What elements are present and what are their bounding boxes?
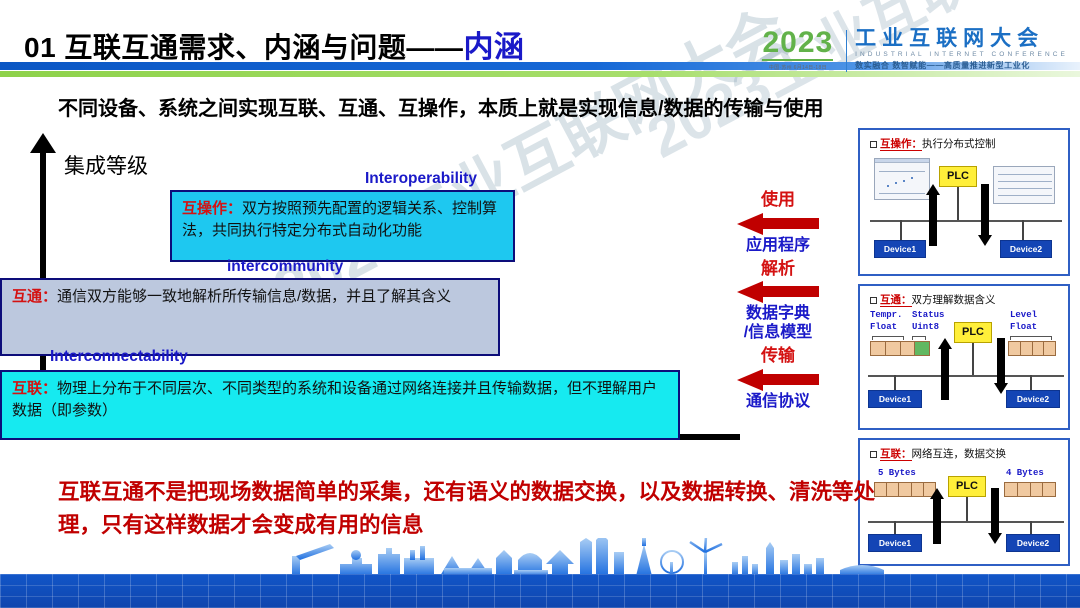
page-title-accent: 内涵: [463, 31, 524, 64]
level-box-interoperability: 互操作：双方按照预先配置的逻辑关系、控制算法，共同执行特定分布式自动化功能: [170, 190, 515, 262]
logo-chinese-name: 工业互联网大会: [855, 28, 1068, 50]
brace-left-2: [912, 336, 926, 340]
logo-divider: [846, 30, 847, 72]
panel-desc-intercommunication: 双方理解数据含义: [912, 294, 996, 306]
slide-root: 2023工业互联网大会 2023工业互联网大会 01 互联互通需求、内涵与问题—…: [0, 0, 1080, 608]
y-axis-arrowhead: [30, 133, 56, 153]
panel-key-interconnection: 互联：: [880, 448, 912, 461]
byte-cells-left-3: [874, 482, 936, 497]
device-stub-left-2: [894, 375, 896, 391]
logo-year: 2023: [762, 28, 833, 61]
device-stub-right-2: [1030, 375, 1032, 391]
checkbox-square-icon: [870, 297, 877, 304]
panel-key-interoperation: 互操作：: [880, 138, 922, 151]
panel-title-interoperation: 互操作：执行分布式控制: [870, 136, 996, 151]
level-box-intercommunity: 互通：通信双方能够一致地解析所传输信息/数据，并且了解其含义: [0, 278, 500, 356]
device-stub-right-1: [1022, 220, 1024, 242]
level-text-intercommunity: 通信双方能够一致地解析所传输信息/数据，并且了解其含义: [57, 288, 451, 305]
logo-english-name: INDUSTRIAL INTERNET CONFERENCE: [855, 51, 1068, 58]
plc-node-1: PLC: [939, 166, 977, 187]
fieldbus-line-2: [868, 375, 1064, 377]
left-arrow-icon-transmit: [737, 369, 819, 391]
arrow-top-label-parse: 解析: [718, 259, 838, 279]
label-level: Level: [1010, 310, 1037, 320]
level-box-interconnectability: 互联：物理上分布于不同层次、不同类型的系统和设备通过网络连接并且传输数据，但不理…: [0, 370, 680, 440]
panel-key-intercommunication: 互通：: [880, 294, 912, 307]
logo-name-block: 工业互联网大会 INDUSTRIAL INTERNET CONFERENCE 数…: [855, 28, 1068, 71]
level-label-interconnectability: Interconnectability: [50, 348, 188, 366]
label-status: Status: [912, 310, 944, 320]
fieldbus-line-1: [870, 220, 1062, 222]
level-key-interoperability: 互操作：: [182, 200, 242, 217]
arrow-bottom-label-dictionary: 数据字典: [718, 305, 838, 323]
level-text-interconnectability: 物理上分布于不同层次、不同类型的系统和设备通过网络连接并且传输数据，但不理解用户…: [12, 380, 657, 419]
left-arrow-icon-use: [737, 213, 819, 235]
left-arrow-icon-parse: [737, 281, 819, 303]
up-arrow-icon-2: [938, 338, 952, 400]
brace-left-1: [872, 336, 904, 340]
byte-cells-right-3: [1004, 482, 1056, 497]
up-arrow-icon-1: [926, 184, 940, 246]
label-4-bytes: 4 Bytes: [1006, 468, 1044, 478]
arrow-top-label-transmit: 传输: [718, 346, 838, 366]
label-float-left: Float: [870, 322, 897, 332]
device-left-1: Device1: [874, 240, 926, 258]
level-label-interoperability: Interoperability: [365, 170, 477, 188]
chart-thumbnail-icon: [874, 158, 930, 200]
plc-stub-1: [957, 187, 959, 220]
plc-stub-3: [966, 497, 968, 521]
level-key-interconnectability: 互联：: [12, 380, 57, 397]
level-label-intercommunity: intercommunity: [227, 258, 343, 276]
device-stub-left-1: [900, 220, 902, 242]
down-arrow-icon-3: [988, 488, 1002, 544]
bottom-banner: [0, 542, 1080, 608]
label-5-bytes: 5 Bytes: [878, 468, 916, 478]
logo-year-block: 2023 中国·苏州 6月14日-18日: [756, 28, 840, 71]
panel-title-intercommunication: 互通：双方理解数据含义: [870, 292, 996, 307]
logo-year-subtitle: 中国·苏州 6月14日-18日: [756, 64, 840, 71]
device-left-2: Device1: [868, 390, 922, 408]
table-thumbnail-icon: [993, 166, 1055, 204]
down-arrow-icon-2: [994, 338, 1008, 394]
panel-title-interconnection: 互联：网络互连，数据交换: [870, 446, 1006, 461]
arrow-column: 使用 应用程序 解析 数据字典 /信息模型 传输 通信协议: [718, 190, 838, 460]
brace-right-1: [1010, 336, 1052, 340]
up-arrow-icon-3: [930, 488, 944, 544]
arrow-group-parse: 解析 数据字典 /信息模型: [718, 259, 838, 342]
down-arrow-icon-1: [978, 184, 992, 246]
plc-node-3: PLC: [948, 476, 986, 497]
checkbox-square-icon: [870, 451, 877, 458]
fieldbus-line-3: [868, 521, 1064, 523]
page-title: 01 互联互通需求、内涵与问题——内涵: [24, 22, 524, 66]
arrow-bottom-label-application: 应用程序: [718, 237, 838, 255]
byte-cells-right-2: [1008, 341, 1056, 356]
panel-intercommunication: 互通：双方理解数据含义 Tempr. Float Status Uint8 Le…: [858, 284, 1070, 430]
checkbox-square-icon: [870, 141, 877, 148]
device-right-1: Device2: [1000, 240, 1052, 258]
device-stub-right-3: [1030, 521, 1032, 535]
arrow-group-transmit: 传输 通信协议: [718, 346, 838, 411]
arrow-bottom-label-infomodel: /信息模型: [718, 324, 838, 342]
banner-grid: [0, 574, 1080, 608]
label-tempr: Tempr.: [870, 310, 902, 320]
integration-level-diagram: 集成等级 Interoperability 互操作：双方按照预先配置的逻辑关系、…: [20, 130, 840, 460]
panel-desc-interoperation: 执行分布式控制: [922, 138, 996, 150]
label-float-right: Float: [1010, 322, 1037, 332]
panel-interoperation: 互操作：执行分布式控制 PLC Device1 Device2: [858, 128, 1070, 276]
arrow-bottom-label-protocol: 通信协议: [718, 393, 838, 411]
page-title-main: 01 互联互通需求、内涵与问题——: [24, 32, 463, 63]
plc-stub-2: [972, 343, 974, 375]
device-stub-left-3: [894, 521, 896, 535]
subtitle-text: 不同设备、系统之间实现互联、互通、互操作，本质上就是实现信息/数据的传输与使用: [58, 92, 1058, 121]
y-axis-label: 集成等级: [64, 150, 148, 180]
panel-desc-interconnection: 网络互连，数据交换: [912, 448, 1007, 460]
plc-node-2: PLC: [954, 322, 992, 343]
conference-logo: 2023 中国·苏州 6月14日-18日 工业互联网大会 INDUSTRIAL …: [756, 28, 1068, 84]
logo-slogan: 数实融合 数智赋能——高质量推进新型工业化: [855, 60, 1068, 71]
level-key-intercommunity: 互通：: [12, 288, 57, 305]
arrow-top-label-use: 使用: [718, 190, 838, 210]
label-uint8: Uint8: [912, 322, 939, 332]
arrow-group-use: 使用 应用程序: [718, 190, 838, 255]
device-right-2: Device2: [1006, 390, 1060, 408]
byte-cells-left-2: [870, 341, 930, 356]
city-skyline-graphic: [0, 538, 1080, 578]
conclusion-text: 互联互通不是把现场数据简单的采集，还有语义的数据交换，以及数据转换、清洗等处理，…: [58, 476, 878, 541]
